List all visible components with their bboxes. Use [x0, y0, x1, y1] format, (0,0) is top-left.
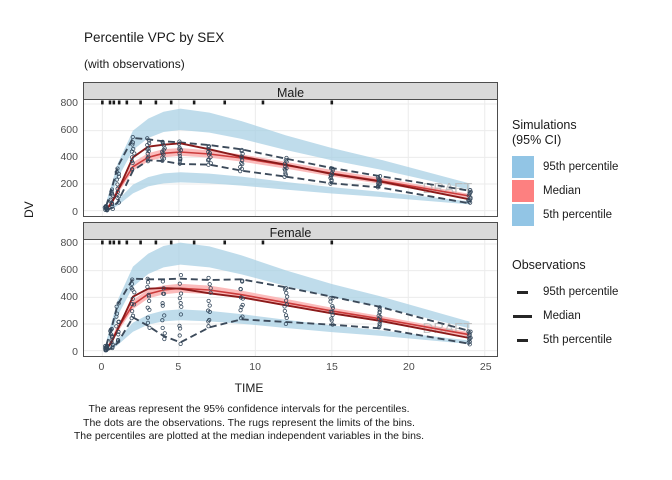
legend-item-sim-p95[interactable]: 95th percentile [512, 155, 618, 179]
legend-observations-title: Observations [512, 258, 618, 273]
legend-swatch-blue-icon [512, 204, 534, 226]
y-tick-label: 600 [42, 124, 78, 136]
caption-line-3: The percentiles are plotted at the media… [0, 430, 498, 444]
y-tick-label: 800 [42, 237, 78, 249]
y-tick-label: 400 [42, 291, 78, 303]
facet-strip-male-label: Male [277, 86, 304, 100]
legend-item-obs-p95[interactable]: 95th percentile [512, 280, 618, 304]
y-tick-label: 0 [42, 206, 78, 218]
plot-canvas-male: DRAFT [84, 100, 497, 216]
y-tick-label: 600 [42, 264, 78, 276]
facet-strip-female-label: Female [270, 226, 312, 240]
legend-label-sim-median: Median [543, 185, 581, 197]
y-tick-label: 400 [42, 151, 78, 163]
y-tick-label: 800 [42, 97, 78, 109]
legend-dashed-line-icon [512, 329, 534, 351]
legend-item-obs-median[interactable]: Median [512, 304, 618, 328]
legend-swatch-salmon-icon [512, 180, 534, 202]
x-tick-label: 5 [175, 361, 181, 373]
caption-line-2: The dots are the observations. The rugs … [0, 417, 498, 431]
plot-panel-male: DRAFT [83, 99, 498, 217]
y-axis-label: DV [22, 201, 36, 218]
legend-label-sim-p95: 95th percentile [543, 161, 618, 173]
figure-caption: The areas represent the 95% confidence i… [0, 403, 498, 444]
x-tick-label: 20 [403, 361, 415, 373]
y-tick-label: 200 [42, 178, 78, 190]
x-tick-label: 0 [99, 361, 105, 373]
y-axis-ticks-female: 0200400600800 [38, 239, 78, 357]
legend-label-sim-p05: 5th percentile [543, 209, 612, 221]
legend-item-sim-median[interactable]: Median [512, 179, 618, 203]
x-tick-label: 10 [249, 361, 261, 373]
legend-label-obs-p05: 5th percentile [543, 334, 612, 346]
x-tick-label: 15 [326, 361, 338, 373]
y-axis-ticks-male: 0200400600800 [38, 99, 78, 217]
x-axis-ticks: 0510152025 [83, 361, 498, 377]
legend-label-obs-p95: 95th percentile [543, 286, 618, 298]
plot-panel-female: DRAFT [83, 239, 498, 357]
page-title: Percentile VPC by SEX [84, 30, 224, 45]
legend-item-sim-p05[interactable]: 5th percentile [512, 203, 618, 227]
legend-label-obs-median: Median [543, 310, 581, 322]
vpc-plot-page: Percentile VPC by SEX (with observations… [0, 0, 672, 480]
page-subtitle: (with observations) [84, 57, 185, 71]
x-axis-label: TIME [0, 381, 498, 395]
x-tick-label: 25 [480, 361, 492, 373]
legend-simulations-title: Simulations (95% CI) [512, 118, 618, 148]
legend-simulations: Simulations (95% CI) 95th percentile Med… [512, 118, 618, 227]
legend-dashed-line-icon [512, 281, 534, 303]
legend-swatch-blue-icon [512, 156, 534, 178]
y-tick-label: 0 [42, 346, 78, 358]
legend-solid-line-icon [512, 305, 534, 327]
legend-observations: Observations 95th percentile Median 5th … [512, 258, 618, 352]
plot-canvas-female: DRAFT [84, 240, 497, 356]
y-tick-label: 200 [42, 318, 78, 330]
caption-line-1: The areas represent the 95% confidence i… [0, 403, 498, 417]
legend-item-obs-p05[interactable]: 5th percentile [512, 328, 618, 352]
